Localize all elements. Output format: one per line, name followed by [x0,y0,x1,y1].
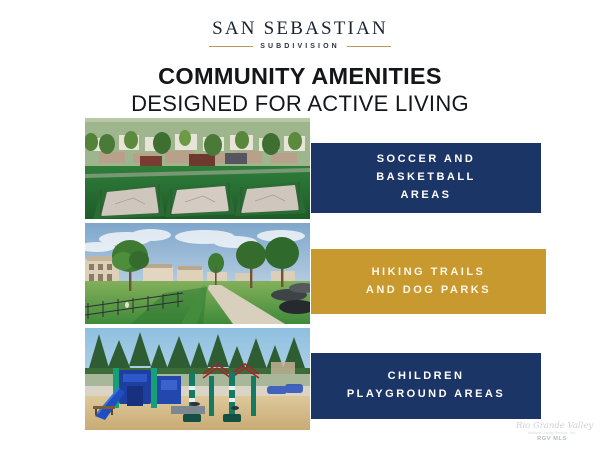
amenity-label-trails: HIKING TRAILS AND DOG PARKS [366,264,491,300]
page-title: COMMUNITY AMENITIES [0,64,600,89]
brand-subtitle: SUBDIVISION [260,43,340,50]
amenity-label-box-playground[interactable]: CHILDREN PLAYGROUND AREAS [311,353,541,419]
mls-watermark: Rio Grande Valley Multiple Listing Servi… [516,422,588,443]
slide-root: { "brand": { "name": "SAN SEBASTIAN", "s… [0,0,600,450]
park-trail-illustration [85,223,310,324]
amenity-row: HIKING TRAILS AND DOG PARKS [85,223,525,324]
amenity-row: CHILDREN PLAYGROUND AREAS [85,328,525,430]
aerial-subdivision-illustration [85,118,310,219]
amenity-label-box-sports[interactable]: SOCCER AND BASKETBALL AREAS [311,143,541,213]
brand-subtitle-row: SUBDIVISION [0,43,600,50]
playground-illustration [85,328,310,430]
brand-logo: SAN SEBASTIAN SUBDIVISION [0,0,600,50]
amenities-list: SOCCER AND BASKETBALL AREAS [85,118,525,430]
amenity-photo-sports [85,118,310,219]
divider-rule-left [209,46,253,47]
amenity-label-sports: SOCCER AND BASKETBALL AREAS [376,151,476,204]
amenity-photo-playground [85,328,310,430]
amenity-row: SOCCER AND BASKETBALL AREAS [85,118,525,219]
divider-rule-right [347,46,391,47]
amenity-label-box-trails[interactable]: HIKING TRAILS AND DOG PARKS [311,249,546,314]
amenity-photo-trails [85,223,310,324]
amenity-label-playground: CHILDREN PLAYGROUND AREAS [347,368,505,404]
watermark-mls-label: RGV MLS [516,436,588,442]
watermark-script-text: Rio Grande Valley [516,422,588,431]
brand-name: SAN SEBASTIAN [0,19,600,38]
watermark-fineprint: Multiple Listing Service, Inc. [516,431,588,435]
page-subtitle: DESIGNED FOR ACTIVE LIVING [0,92,600,115]
